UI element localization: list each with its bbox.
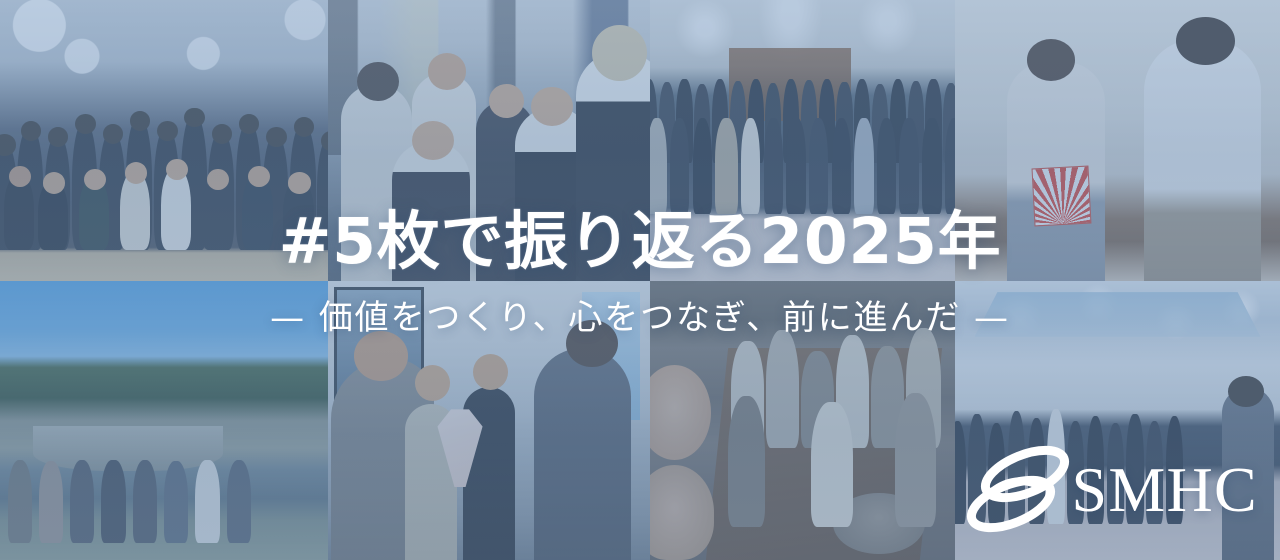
head xyxy=(566,320,618,367)
photo-tile-palace-moat xyxy=(0,281,328,560)
photo-tile-bouquet-presentation xyxy=(328,281,650,560)
head xyxy=(650,365,711,460)
photo-tile-office-allhands xyxy=(0,0,328,281)
photo-background xyxy=(328,0,650,155)
photo-tile-izakaya-party xyxy=(650,281,955,560)
person-mid-2 xyxy=(463,387,515,560)
photo-background xyxy=(334,287,424,405)
head xyxy=(415,365,450,401)
photo-scene xyxy=(328,0,650,281)
crowd-group xyxy=(0,84,328,250)
head xyxy=(354,331,409,381)
photo-tile-ballot-box xyxy=(955,0,1280,281)
photo-background xyxy=(582,292,640,420)
head xyxy=(473,354,508,390)
swirl-spiral-icon xyxy=(963,438,1075,542)
photo-background xyxy=(706,348,942,560)
photo-scene xyxy=(955,0,1280,281)
photo-scene xyxy=(328,281,650,560)
photo-tile-banquet-group xyxy=(650,0,955,281)
hotpot xyxy=(833,493,925,554)
bouquet xyxy=(437,409,482,487)
ballot-box-prop xyxy=(1032,165,1092,226)
crowd-group xyxy=(0,460,328,544)
person-left xyxy=(1007,62,1105,281)
photo-tile-lobby-selfie xyxy=(328,0,650,281)
smhc-logo: SMHC xyxy=(963,438,1258,542)
person-mid-1 xyxy=(405,404,457,560)
crowd-group xyxy=(711,320,955,448)
person-right xyxy=(1144,39,1261,281)
person-left xyxy=(331,359,434,560)
photo-background xyxy=(729,48,851,121)
head xyxy=(1228,376,1264,407)
logo-wordmark: SMHC xyxy=(1071,458,1258,522)
photo-background xyxy=(33,426,223,471)
photo-scene xyxy=(650,281,955,560)
photo-background xyxy=(975,292,1261,337)
crowd-group xyxy=(723,381,955,526)
photo-scene xyxy=(650,0,955,281)
head xyxy=(1027,39,1076,81)
crowd-group xyxy=(650,79,955,163)
photo-scene xyxy=(0,0,328,281)
crowd-group xyxy=(328,0,650,281)
year-recap-banner: #5枚で振り返る2025年 — 価値をつくり、心をつなぎ、前に進んだ — SMH… xyxy=(0,0,1280,560)
head xyxy=(1176,17,1235,65)
crowd-group xyxy=(650,118,955,214)
person-right xyxy=(534,348,631,560)
head xyxy=(650,465,714,560)
photo-scene xyxy=(0,281,328,560)
